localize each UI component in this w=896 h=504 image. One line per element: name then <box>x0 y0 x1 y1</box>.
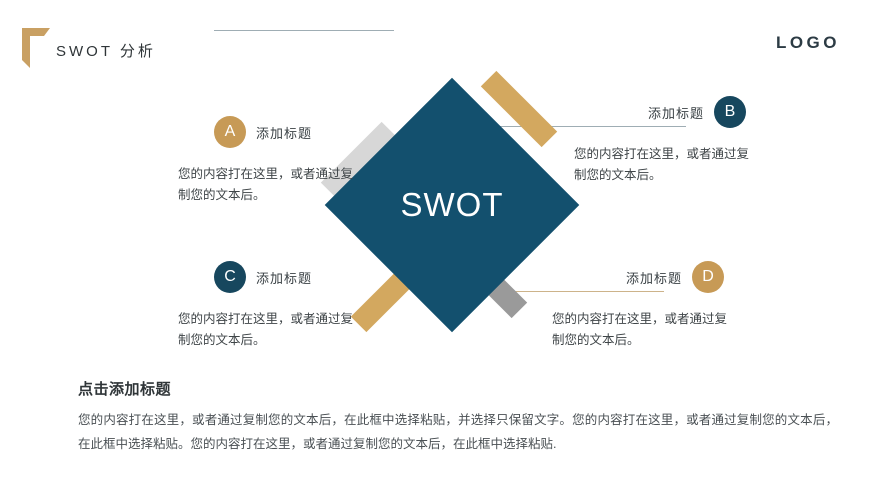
quadrant-b-badge: B <box>714 96 746 128</box>
quadrant-d-title: 添加标题 <box>626 268 682 287</box>
bottom-text-block[interactable]: 点击添加标题 您的内容打在这里，或者通过复制您的文本后，在此框中选择粘贴，并选择… <box>78 378 838 457</box>
quadrant-b[interactable]: 添加标题 B 您的内容打在这里，或者通过复制您的文本后。 <box>574 96 782 185</box>
quadrant-b-head: 添加标题 B <box>574 96 782 128</box>
bottom-paragraph: 您的内容打在这里，或者通过复制您的文本后，在此框中选择粘贴，并选择只保留文字。您… <box>78 409 838 457</box>
quadrant-d-head: 添加标题 D <box>552 261 760 293</box>
quadrant-a-head: A 添加标题 <box>178 116 386 148</box>
quadrant-a-badge: A <box>214 116 246 148</box>
quadrant-a-title: 添加标题 <box>256 123 312 142</box>
connector-rule-c <box>214 30 394 31</box>
logo: LOGO <box>776 34 840 51</box>
slide-canvas: SWOT 分析 LOGO SWOT A 添加标题 您的内容打在这里，或者通过复制… <box>0 0 896 504</box>
corner-bracket-icon <box>22 28 50 68</box>
quadrant-b-body: 您的内容打在这里，或者通过复制您的文本后。 <box>574 144 750 185</box>
quadrant-c-badge: C <box>214 261 246 293</box>
quadrant-b-title: 添加标题 <box>648 103 704 122</box>
quadrant-d-body: 您的内容打在这里，或者通过复制您的文本后。 <box>552 309 728 350</box>
quadrant-c-body: 您的内容打在这里，或者通过复制您的文本后。 <box>178 309 354 350</box>
page-title: SWOT 分析 <box>56 44 156 68</box>
slide-header: SWOT 分析 <box>22 28 156 68</box>
quadrant-c-title: 添加标题 <box>256 268 312 287</box>
quadrant-a[interactable]: A 添加标题 您的内容打在这里，或者通过复制您的文本后。 <box>178 116 386 205</box>
bottom-heading: 点击添加标题 <box>78 378 838 399</box>
quadrant-c-head: C 添加标题 <box>178 261 386 293</box>
quadrant-c[interactable]: C 添加标题 您的内容打在这里，或者通过复制您的文本后。 <box>178 261 386 350</box>
quadrant-d-badge: D <box>692 261 724 293</box>
quadrant-a-body: 您的内容打在这里，或者通过复制您的文本后。 <box>178 164 354 205</box>
quadrant-d[interactable]: 添加标题 D 您的内容打在这里，或者通过复制您的文本后。 <box>552 261 760 350</box>
